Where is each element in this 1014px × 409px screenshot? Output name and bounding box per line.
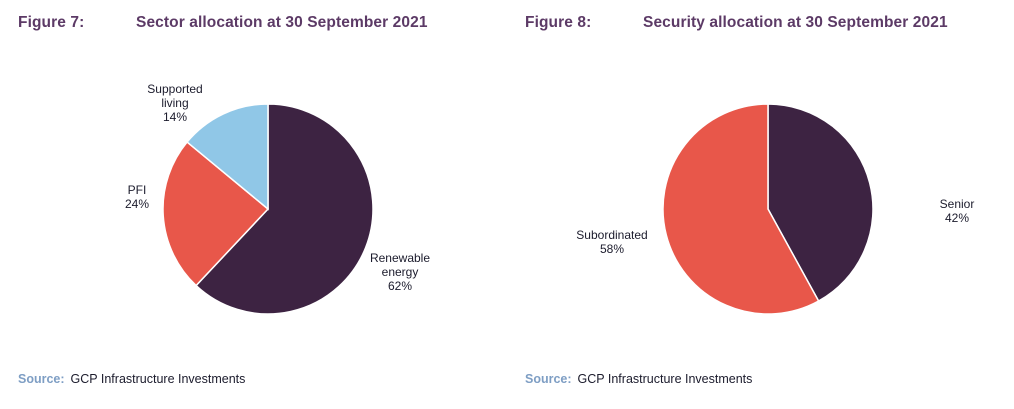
- figure-7-number: Figure 7:: [18, 12, 136, 33]
- pie-label-senior: Senior 42%: [940, 197, 975, 225]
- pie-label-renewable-energy-line2: energy: [382, 265, 419, 279]
- pie-label-supported-living-line1: Supported: [147, 82, 202, 96]
- figure-8-title: Security allocation at 30 September 2021: [643, 12, 997, 33]
- figure-8-header: Figure 8: Security allocation at 30 Sept…: [525, 12, 997, 33]
- figure-7-source-label: Source:: [18, 372, 65, 386]
- pie-label-renewable-energy-line1: Renewable: [370, 251, 430, 265]
- pie-label-pfi-value: 24%: [125, 197, 149, 211]
- figure-8-chart: Subordinated 58% Senior 42%: [507, 58, 1014, 348]
- figure-7-title: Sector allocation at 30 September 2021: [136, 12, 490, 33]
- pie-label-supported-living: Supported living 14%: [147, 82, 202, 124]
- figure-7-chart: Supported living 14% PFI 24% Renewable e…: [0, 58, 507, 348]
- figure-8-source-label: Source:: [525, 372, 572, 386]
- pie-chart-security-allocation: Subordinated 58% Senior 42%: [507, 58, 1014, 348]
- pie-label-renewable-energy-value: 62%: [388, 279, 412, 293]
- figure-7-header: Figure 7: Sector allocation at 30 Septem…: [18, 12, 490, 33]
- figure-8-source: Source:GCP Infrastructure Investments: [525, 371, 752, 387]
- pie-label-renewable-energy: Renewable energy 62%: [370, 251, 430, 293]
- figures-page: Figure 7: Sector allocation at 30 Septem…: [0, 0, 1014, 409]
- pie-label-senior-line1: Senior: [940, 197, 975, 211]
- figure-8-source-value: GCP Infrastructure Investments: [578, 372, 753, 386]
- pie-label-supported-living-value: 14%: [163, 110, 187, 124]
- figure-8-number: Figure 8:: [525, 12, 643, 33]
- pie-label-subordinated-value: 58%: [600, 242, 624, 256]
- figure-panel-8: Figure 8: Security allocation at 30 Sept…: [507, 0, 1014, 409]
- figure-panel-7: Figure 7: Sector allocation at 30 Septem…: [0, 0, 507, 409]
- pie-label-pfi: PFI 24%: [125, 183, 149, 211]
- pie-chart-sector-allocation: Supported living 14% PFI 24% Renewable e…: [0, 58, 507, 348]
- pie-label-subordinated: Subordinated 58%: [576, 228, 647, 256]
- figure-7-source-value: GCP Infrastructure Investments: [71, 372, 246, 386]
- pie-label-subordinated-line1: Subordinated: [576, 228, 647, 242]
- pie-label-supported-living-line2: living: [161, 96, 188, 110]
- figure-7-source: Source:GCP Infrastructure Investments: [18, 371, 245, 387]
- pie-label-pfi-line1: PFI: [128, 183, 147, 197]
- pie-label-senior-value: 42%: [945, 211, 969, 225]
